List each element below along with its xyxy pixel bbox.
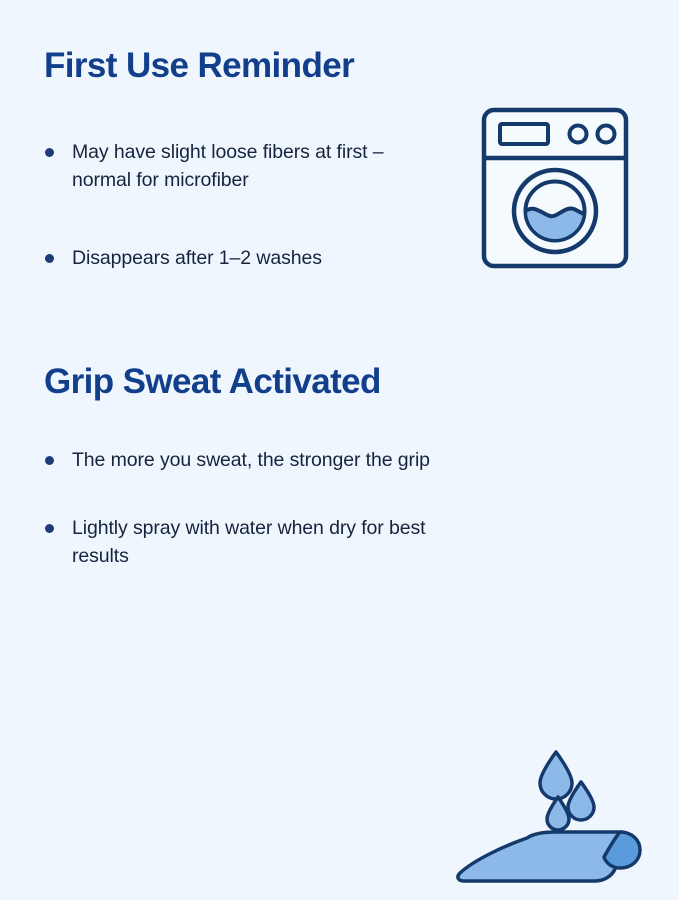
bullet-dot-icon	[45, 254, 54, 263]
bullet-dot-icon	[45, 456, 54, 465]
section-first-use-reminder: First Use Reminder May have slight loose…	[0, 46, 679, 336]
list-item: Lightly spray with water when dry for be…	[44, 514, 444, 570]
infographic-page: First Use Reminder May have slight loose…	[0, 0, 679, 679]
page-title: First Use Reminder	[44, 46, 444, 86]
list-item-label: The more you sweat, the stronger the gri…	[72, 449, 430, 471]
list-item: May have slight loose fibers at first – …	[44, 138, 444, 194]
list-item: The more you sweat, the stronger the gri…	[44, 446, 444, 474]
towel-with-water-drops-icon	[452, 740, 667, 895]
bullet-dot-icon	[45, 524, 54, 533]
list-item-label: Disappears after 1–2 washes	[72, 247, 322, 269]
list-item-label: May have slight loose fibers at first – …	[72, 141, 384, 191]
bullet-list: The more you sweat, the stronger the gri…	[44, 446, 444, 570]
section-text-block: First Use Reminder May have slight loose…	[44, 46, 444, 272]
bullet-list: May have slight loose fibers at first – …	[44, 138, 444, 272]
section-grip-sweat-activated: Grip Sweat Activated The more you sweat,…	[0, 362, 679, 642]
washing-machine-icon	[470, 98, 640, 278]
bullet-dot-icon	[45, 148, 54, 157]
list-item-label: Lightly spray with water when dry for be…	[72, 517, 425, 567]
list-item: Disappears after 1–2 washes	[44, 244, 444, 272]
water-drop-group	[540, 752, 594, 830]
page-title: Grip Sweat Activated	[44, 362, 444, 402]
section-text-block: Grip Sweat Activated The more you sweat,…	[44, 362, 444, 570]
